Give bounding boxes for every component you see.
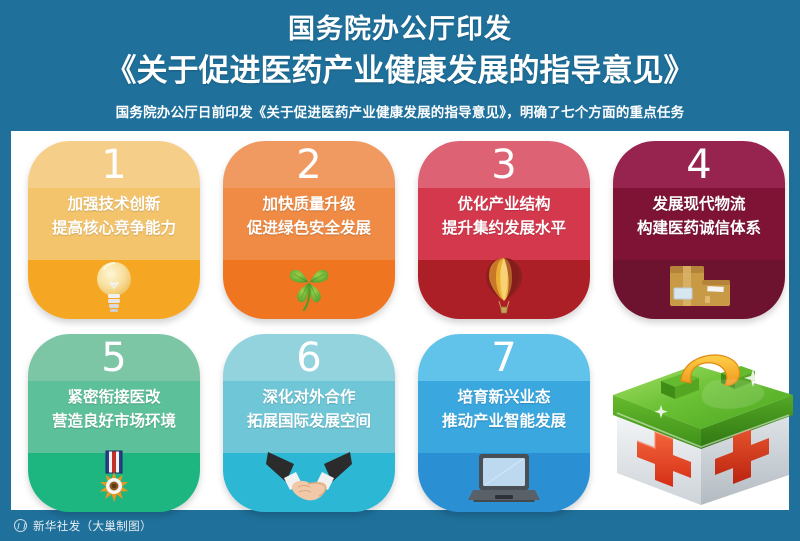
lightbulb-icon xyxy=(28,253,200,319)
parcel-boxes-icon xyxy=(613,253,785,319)
card-5-number: 5 xyxy=(28,334,200,382)
card-5-text: 紧密衔接医改 营造良好市场环境 xyxy=(28,386,200,434)
poster-title-line2: 《关于促进医药产业健康发展的指导意见》 xyxy=(0,43,800,86)
card-7-number: 7 xyxy=(418,334,590,382)
card-5-line2: 营造良好市场环境 xyxy=(28,410,200,434)
card-6-number: 6 xyxy=(223,334,395,382)
card-1-line1: 加强技术创新 xyxy=(28,193,200,217)
task-card-6: 6 深化对外合作 拓展国际发展空间 xyxy=(223,334,395,512)
xinhua-logo xyxy=(14,519,27,532)
task-card-3: 3 优化产业结构 提升集约发展水平 xyxy=(418,141,590,319)
card-4-line2: 构建医药诚信体系 xyxy=(613,217,785,241)
card-3-line2: 提升集约发展水平 xyxy=(418,217,590,241)
card-6-line2: 拓展国际发展空间 xyxy=(223,410,395,434)
hot-air-balloon-icon xyxy=(418,253,590,319)
medal-icon xyxy=(28,446,200,512)
poster-header: 国务院办公厅印发 《关于促进医药产业健康发展的指导意见》 国务院办公厅日前印发《… xyxy=(0,0,800,131)
card-3-line1: 优化产业结构 xyxy=(418,193,590,217)
card-1-number: 1 xyxy=(28,141,200,189)
infographic-poster: 国务院办公厅印发 《关于促进医药产业健康发展的指导意见》 国务院办公厅日前印发《… xyxy=(0,0,800,541)
card-5-line1: 紧密衔接医改 xyxy=(28,386,200,410)
four-leaf-clover-icon xyxy=(223,253,395,319)
task-card-2: 2 加快质量升级 促进绿色安全发展 xyxy=(223,141,395,319)
card-4-line1: 发展现代物流 xyxy=(613,193,785,217)
card-4-number: 4 xyxy=(613,141,785,189)
laptop-icon xyxy=(418,446,590,512)
poster-title-line1: 国务院办公厅印发 xyxy=(0,0,800,43)
card-4-text: 发展现代物流 构建医药诚信体系 xyxy=(613,193,785,241)
card-1-line2: 提高核心竞争能力 xyxy=(28,217,200,241)
card-3-text: 优化产业结构 提升集约发展水平 xyxy=(418,193,590,241)
card-3-number: 3 xyxy=(418,141,590,189)
card-2-number: 2 xyxy=(223,141,395,189)
card-7-line1: 培育新兴业态 xyxy=(418,386,590,410)
card-6-line1: 深化对外合作 xyxy=(223,386,395,410)
card-1-text: 加强技术创新 提高核心竞争能力 xyxy=(28,193,200,241)
handshake-icon xyxy=(223,446,395,512)
card-6-text: 深化对外合作 拓展国际发展空间 xyxy=(223,386,395,434)
card-2-line1: 加快质量升级 xyxy=(223,193,395,217)
task-card-5: 5 紧密衔接医改 营造良好市场环境 xyxy=(28,334,200,512)
footer-credit: 新华社发（大巢制图） xyxy=(33,518,152,534)
card-2-text: 加快质量升级 促进绿色安全发展 xyxy=(223,193,395,241)
poster-subtitle: 国务院办公厅日前印发《关于促进医药产业健康发展的指导意见》，明确了七个方面的重点… xyxy=(0,86,800,120)
task-card-7: 7 培育新兴业态 推动产业智能发展 xyxy=(418,334,590,512)
card-7-line2: 推动产业智能发展 xyxy=(418,410,590,434)
poster-footer: 新华社发（大巢制图） xyxy=(0,510,800,541)
card-7-text: 培育新兴业态 推动产业智能发展 xyxy=(418,386,590,434)
medical-first-aid-kit-illustration xyxy=(603,329,799,515)
task-card-4: 4 发展现代物流 构建医药诚信体系 xyxy=(613,141,785,319)
card-2-line2: 促进绿色安全发展 xyxy=(223,217,395,241)
task-card-1: 1 加强技术创新 提高核心竞争能力 xyxy=(28,141,200,319)
content-panel: 1 加强技术创新 提高核心竞争能力 xyxy=(11,131,789,510)
